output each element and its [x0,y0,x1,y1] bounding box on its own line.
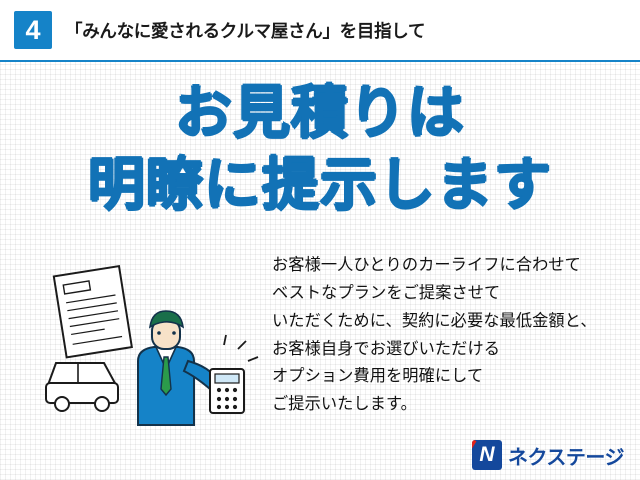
headline-line-1: お見積りは [0,84,640,142]
estimate-sheet-icon [54,266,132,357]
salesman-with-estimate-sheet-and-car-illustration [42,257,262,427]
paragraph-line: お客様自身でお選びいただける [272,335,632,363]
salesman-figure [138,311,218,425]
calculator-icon [210,369,244,413]
section-number-badge: 4 [14,11,52,49]
logo-text: ネクステージ [508,441,624,470]
headline: お見積りは 明瞭に提示します [0,84,640,214]
headline-line-2: 明瞭に提示します [0,156,640,214]
sparkle-icon [224,335,258,361]
car-icon [46,363,118,411]
page-header: 4 「みんなに愛されるクルマ屋さん」を目指して [0,0,640,62]
logo-letter: N [479,443,494,467]
paragraph-line: ベストなプランをご提案させて [272,279,632,307]
body-paragraph: お客様一人ひとりのカーライフに合わせて ベストなプランをご提案させて いただくた… [272,251,632,418]
promo-page: 4 「みんなに愛されるクルマ屋さん」を目指して お見積りは 明瞭に提示します お… [0,0,640,480]
paragraph-line: ご提示いたします。 [272,390,632,418]
content-area: お見積りは 明瞭に提示します お客様一人ひとりのカーライフに合わせて ベストなプ… [0,62,640,480]
page-title: 「みんなに愛されるクルマ屋さん」を目指して [65,18,425,43]
brand-logo: N ネクステージ [472,440,624,470]
paragraph-line: お客様一人ひとりのカーライフに合わせて [272,251,632,279]
logo-red-slash-icon [472,440,476,470]
paragraph-line: いただくために、契約に必要な最低金額と、 [272,307,632,335]
logo-mark-icon: N [472,440,502,470]
paragraph-line: オプション費用を明確にして [272,362,632,390]
